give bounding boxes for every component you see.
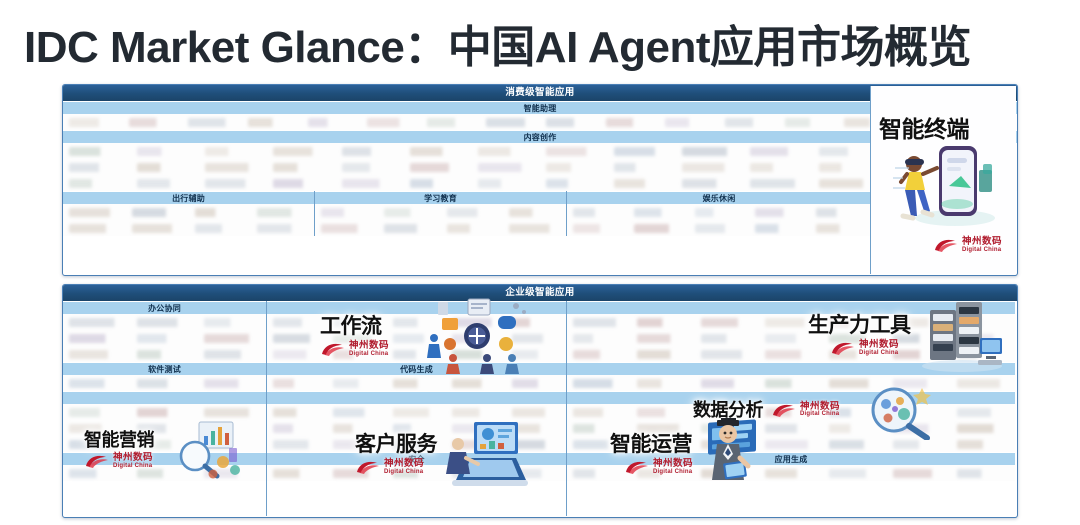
logo-row	[63, 314, 266, 330]
vendor-logo-thumbnail	[573, 224, 622, 233]
laptop-agent-dashboard-icon	[440, 418, 534, 490]
vendor-logo-thumbnail	[69, 224, 120, 233]
vendor-logo-thumbnail	[765, 424, 817, 433]
vendor-logo-thumbnail	[829, 334, 881, 343]
vendor-logo-thumbnail	[637, 424, 689, 433]
vendor-logo-thumbnail	[573, 469, 625, 478]
logo-row	[63, 220, 314, 236]
vendor-logo-thumbnail	[137, 379, 193, 388]
logo-row	[567, 375, 1015, 391]
vendor-logo-thumbnail	[637, 334, 689, 343]
vendor-logo-thumbnail	[785, 118, 833, 127]
vendor-logo-thumbnail	[819, 147, 875, 156]
vendor-logo-thumbnail	[393, 440, 441, 449]
vendor-logo-thumbnail	[273, 147, 329, 156]
vendor-logo-thumbnail	[637, 350, 689, 359]
logo-grid-office-collaboration	[63, 314, 266, 362]
logo-grid-entertainment-leisure	[567, 204, 871, 236]
vendor-logo-thumbnail	[273, 379, 321, 388]
vendor-logo-thumbnail	[637, 318, 689, 327]
spacer-band-left-a	[63, 391, 266, 404]
vendor-logo-thumbnail	[682, 147, 738, 156]
vendor-logo-thumbnail	[384, 208, 435, 217]
vendor-logo-thumbnail	[512, 379, 560, 388]
vendor-logo-thumbnail	[893, 440, 945, 449]
vendor-logo-thumbnail	[69, 350, 125, 359]
vendor-logo-thumbnail	[546, 118, 594, 127]
vendor-logo-thumbnail	[427, 118, 475, 127]
vendor-logo-thumbnail	[132, 208, 183, 217]
logo-row	[63, 330, 266, 346]
logo-row	[567, 436, 1015, 452]
vendor-logo-thumbnail	[606, 118, 654, 127]
vendor-logo-thumbnail	[829, 469, 881, 478]
vendor-logo-thumbnail	[452, 379, 500, 388]
vendor-logo-thumbnail	[765, 318, 817, 327]
vendor-logo-thumbnail	[478, 163, 534, 172]
magnifier-data-bubbles-icon	[862, 386, 936, 440]
vendor-logo-thumbnail	[665, 118, 713, 127]
subcategory-band-app-generation: 应用生成	[567, 452, 1015, 465]
vendor-logo-thumbnail	[816, 224, 865, 233]
vendor-logo-thumbnail	[69, 147, 125, 156]
vendor-logo-thumbnail	[829, 440, 881, 449]
vendor-logo-thumbnail	[333, 440, 381, 449]
vendor-logo-thumbnail	[342, 179, 398, 188]
logo-grid-software-testing	[63, 375, 266, 391]
vendor-logo-thumbnail	[829, 350, 881, 359]
vendor-logo-thumbnail	[755, 208, 804, 217]
column-learning-education: 学习教育	[314, 191, 566, 236]
business-mascot-dashboard-icon	[690, 418, 770, 490]
vendor-logo-thumbnail	[701, 334, 753, 343]
vendor-logo-thumbnail	[137, 147, 193, 156]
vendor-logo-thumbnail	[452, 408, 500, 417]
logo-row	[567, 465, 1015, 481]
vendor-logo-thumbnail	[333, 318, 381, 327]
vendor-logo-thumbnail	[393, 469, 441, 478]
vendor-logo-thumbnail	[248, 118, 296, 127]
vendor-logo-thumbnail	[273, 179, 329, 188]
vendor-logo-thumbnail	[137, 179, 193, 188]
logo-row	[63, 346, 266, 362]
page-title: IDC Market Glance：中国AI Agent应用市场概览	[24, 22, 1064, 74]
vendor-logo-thumbnail	[393, 424, 441, 433]
vendor-logo-thumbnail	[204, 408, 260, 417]
vendor-logo-thumbnail	[447, 208, 498, 217]
vendor-logo-thumbnail	[614, 147, 670, 156]
vendor-logo-thumbnail	[321, 224, 372, 233]
vendor-logo-thumbnail	[333, 379, 381, 388]
vendor-logo-thumbnail	[333, 334, 381, 343]
vendor-logo-thumbnail	[137, 163, 193, 172]
vendor-logo-thumbnail	[634, 224, 683, 233]
logo-row	[63, 375, 266, 391]
vendor-logo-thumbnail	[478, 179, 534, 188]
vendor-logo-thumbnail	[447, 224, 498, 233]
vendor-logo-thumbnail	[195, 208, 246, 217]
vendor-logo-thumbnail	[333, 424, 381, 433]
vendor-logo-thumbnail	[573, 208, 622, 217]
logo-row	[567, 420, 1015, 436]
vendor-logo-thumbnail	[637, 469, 689, 478]
vendor-logo-thumbnail	[393, 379, 441, 388]
subcategory-band-office-collaboration: 办公协同	[63, 301, 266, 314]
vendor-logo-thumbnail	[725, 118, 773, 127]
vendor-logo-thumbnail	[342, 163, 398, 172]
logo-grid-smart-operations	[567, 404, 1015, 452]
brand-name-cn: 神州数码	[962, 237, 1002, 247]
column-entertainment-leisure: 娱乐休闲	[566, 191, 871, 236]
logo-row	[315, 220, 566, 236]
vendor-logo-thumbnail	[701, 408, 753, 417]
vendor-logo-thumbnail	[273, 318, 321, 327]
vendor-logo-thumbnail	[755, 224, 804, 233]
vendor-logo-thumbnail	[765, 350, 817, 359]
logo-row	[567, 404, 1015, 420]
vendor-logo-thumbnail	[750, 163, 806, 172]
vendor-logo-thumbnail	[573, 318, 625, 327]
vendor-logo-thumbnail	[637, 379, 689, 388]
vendor-logo-thumbnail	[614, 163, 670, 172]
infographic-root: IDC Market Glance：中国AI Agent应用市场概览 消费级智能…	[0, 0, 1080, 525]
vendor-logo-thumbnail	[137, 408, 193, 417]
vendor-logo-thumbnail	[69, 334, 125, 343]
vendor-logo-thumbnail	[819, 179, 875, 188]
vendor-logo-thumbnail	[342, 147, 398, 156]
server-racks-icon	[916, 298, 1008, 374]
vendor-logo-thumbnail	[393, 408, 441, 417]
vendor-logo-thumbnail	[957, 379, 1009, 388]
vendor-logo-thumbnail	[195, 224, 246, 233]
vendor-logo-thumbnail	[333, 350, 381, 359]
vendor-logo-thumbnail	[509, 208, 560, 217]
vendor-logo-thumbnail	[695, 224, 744, 233]
vendor-logo-thumbnail	[132, 224, 183, 233]
logo-grid-code-generation	[267, 375, 566, 391]
logo-row	[63, 204, 314, 220]
vendor-logo-thumbnail	[205, 179, 261, 188]
vendor-logo-thumbnail	[829, 318, 881, 327]
vendor-logo-thumbnail	[273, 408, 321, 417]
vendor-logo-thumbnail	[750, 179, 806, 188]
enterprise-header-band: 企业级智能应用	[63, 285, 1017, 301]
vendor-logo-thumbnail	[614, 179, 670, 188]
vendor-logo-thumbnail	[478, 147, 534, 156]
logo-row	[63, 404, 266, 420]
vendor-logo-thumbnail	[682, 179, 738, 188]
subcategory-band-software-testing: 软件测试	[63, 362, 266, 375]
workflow-team-network-icon	[420, 296, 530, 374]
vendor-logo-thumbnail	[701, 379, 753, 388]
vendor-logo-thumbnail	[750, 147, 806, 156]
vendor-logo-thumbnail	[129, 118, 177, 127]
brand-name-en: Digital China	[962, 247, 1002, 253]
smart-terminal-callout-panel: 智能终端	[870, 86, 1016, 274]
logo-grid-learning-education	[315, 204, 566, 236]
vendor-logo-thumbnail	[69, 469, 125, 478]
vendor-logo-thumbnail	[573, 424, 625, 433]
vendor-logo-thumbnail	[257, 224, 308, 233]
vendor-logo-thumbnail	[509, 224, 560, 233]
logo-row	[315, 204, 566, 220]
spacer-band-right-c	[567, 391, 1015, 404]
vendor-logo-thumbnail	[273, 350, 321, 359]
vendor-logo-thumbnail	[765, 379, 817, 388]
vendor-logo-thumbnail	[273, 440, 321, 449]
vendor-logo-thumbnail	[546, 163, 602, 172]
vendor-logo-thumbnail	[204, 379, 260, 388]
vendor-logo-thumbnail	[546, 147, 602, 156]
vendor-logo-thumbnail	[321, 208, 372, 217]
vendor-logo-thumbnail	[69, 424, 125, 433]
vendor-logo-thumbnail	[137, 318, 193, 327]
vendor-logo-thumbnail	[69, 408, 125, 417]
vendor-logo-thumbnail	[682, 163, 738, 172]
vendor-logo-thumbnail	[137, 350, 193, 359]
vendor-logo-thumbnail	[893, 469, 945, 478]
vendor-logo-thumbnail	[204, 350, 260, 359]
vendor-logo-thumbnail	[573, 440, 625, 449]
vendor-logo-thumbnail	[410, 179, 466, 188]
logo-row	[267, 375, 566, 391]
vendor-logo-thumbnail	[367, 118, 415, 127]
vendor-logo-thumbnail	[819, 163, 875, 172]
vendor-logo-thumbnail	[273, 469, 321, 478]
vendor-logo-thumbnail	[695, 208, 744, 217]
vendor-logo-thumbnail	[384, 224, 435, 233]
logo-row	[567, 204, 871, 220]
magnifier-charts-icon	[173, 420, 253, 484]
vendor-logo-thumbnail	[816, 208, 865, 217]
logo-grid-travel-assistance	[63, 204, 314, 236]
vendor-logo-thumbnail	[333, 408, 381, 417]
vendor-logo-thumbnail	[573, 408, 625, 417]
vendor-logo-thumbnail	[69, 318, 125, 327]
digital-china-logo-terminal: 神州数码 Digital China	[933, 237, 1002, 253]
vendor-logo-thumbnail	[573, 350, 625, 359]
vendor-logo-thumbnail	[410, 147, 466, 156]
vendor-logo-thumbnail	[257, 208, 308, 217]
logo-row	[567, 220, 871, 236]
subcategory-band-entertainment-leisure: 娱乐休闲	[567, 191, 871, 204]
vendor-logo-thumbnail	[273, 424, 321, 433]
vendor-logo-thumbnail	[957, 424, 1009, 433]
vendor-logo-thumbnail	[69, 440, 125, 449]
subcategory-band-learning-education: 学习教育	[315, 191, 566, 204]
vendor-logo-thumbnail	[273, 334, 321, 343]
vendor-logo-thumbnail	[546, 179, 602, 188]
logo-grid-data-analysis	[567, 375, 1015, 391]
vendor-logo-thumbnail	[765, 440, 817, 449]
vendor-logo-thumbnail	[69, 118, 117, 127]
vr-person-smartphone-icon	[887, 138, 1009, 230]
vendor-logo-thumbnail	[957, 408, 1009, 417]
spacer-band-middle-b	[267, 391, 566, 404]
vendor-logo-thumbnail	[204, 318, 260, 327]
column-travel-assistance: 出行辅助	[63, 191, 314, 236]
logo-grid-app-generation	[567, 465, 1015, 481]
vendor-logo-thumbnail	[957, 440, 1009, 449]
vendor-logo-thumbnail	[308, 118, 356, 127]
vendor-logo-thumbnail	[573, 379, 625, 388]
vendor-logo-thumbnail	[573, 334, 625, 343]
vendor-logo-thumbnail	[765, 334, 817, 343]
digital-china-mark-icon	[933, 237, 959, 253]
vendor-logo-thumbnail	[701, 318, 753, 327]
vendor-logo-thumbnail	[637, 440, 689, 449]
vendor-logo-thumbnail	[69, 163, 125, 172]
vendor-logo-thumbnail	[634, 208, 683, 217]
vendor-logo-thumbnail	[765, 408, 817, 417]
vendor-logo-thumbnail	[957, 469, 1009, 478]
vendor-logo-thumbnail	[637, 408, 689, 417]
vendor-logo-thumbnail	[486, 118, 534, 127]
vendor-logo-thumbnail	[137, 334, 193, 343]
vendor-logo-thumbnail	[205, 163, 261, 172]
vendor-logo-thumbnail	[204, 334, 260, 343]
vendor-logo-thumbnail	[69, 379, 125, 388]
vendor-logo-thumbnail	[333, 469, 381, 478]
subcategory-band-travel-assistance: 出行辅助	[63, 191, 314, 204]
vendor-logo-thumbnail	[701, 350, 753, 359]
vendor-logo-thumbnail	[69, 179, 125, 188]
vendor-logo-thumbnail	[69, 208, 120, 217]
vendor-logo-thumbnail	[205, 147, 261, 156]
vendor-logo-thumbnail	[765, 469, 817, 478]
vendor-logo-thumbnail	[410, 163, 466, 172]
vendor-logo-thumbnail	[188, 118, 236, 127]
vendor-logo-thumbnail	[512, 408, 560, 417]
vendor-logo-thumbnail	[273, 163, 329, 172]
